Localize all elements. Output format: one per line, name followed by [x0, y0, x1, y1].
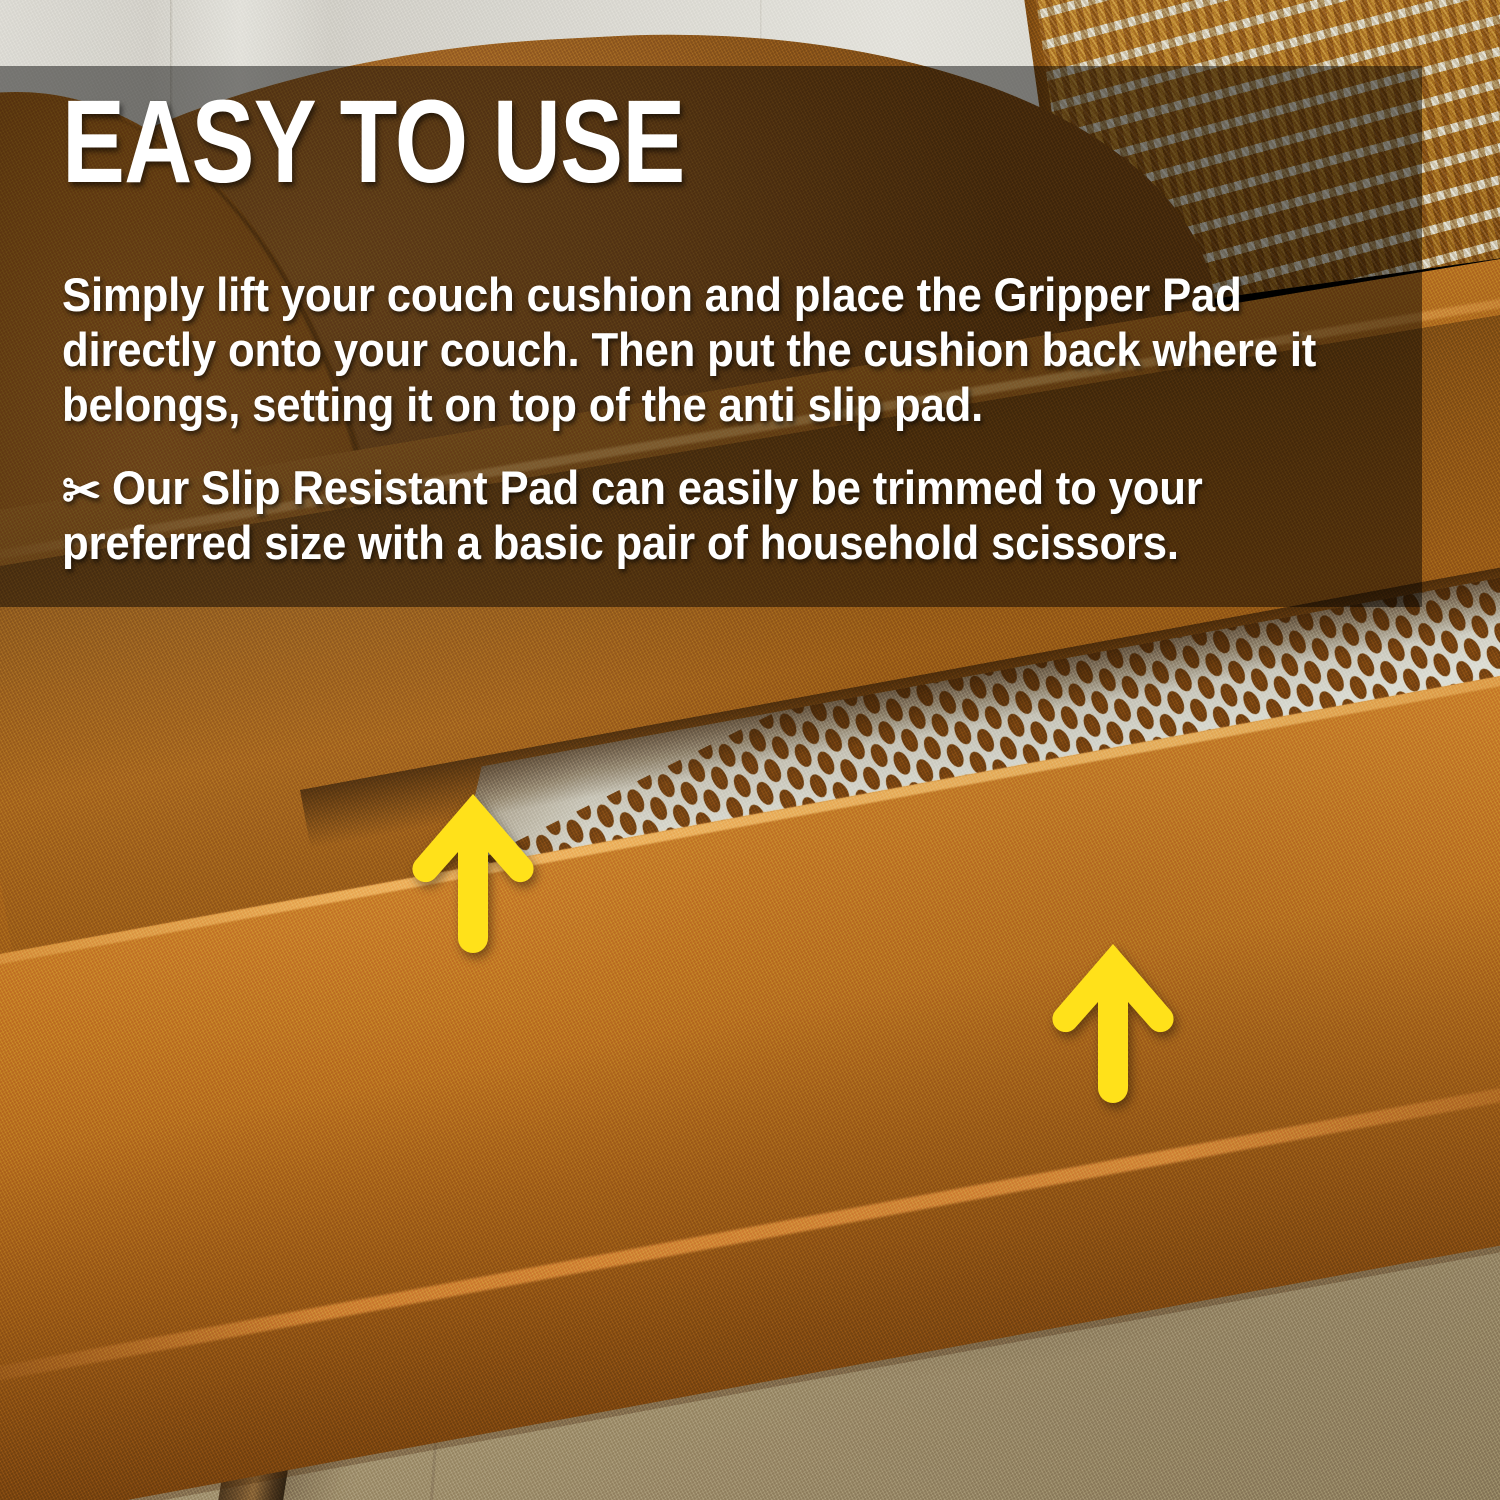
instruction-text: Simply lift your couch cushion and place…	[62, 268, 1316, 431]
instructions-block: Simply lift your couch cushion and place…	[62, 268, 1422, 571]
trim-text: Our Slip Resistant Pad can easily be tri…	[62, 461, 1203, 569]
product-infographic: EASY TO USE Simply lift your couch cushi…	[0, 0, 1500, 1500]
trim-paragraph: ✂Our Slip Resistant Pad can easily be tr…	[62, 461, 1327, 571]
scissors-icon: ✂	[62, 466, 101, 516]
instruction-paragraph: Simply lift your couch cushion and place…	[62, 268, 1327, 433]
page-title: EASY TO USE	[62, 88, 685, 197]
up-arrow-icon-right	[1048, 938, 1178, 1106]
up-arrow-icon-left	[408, 788, 538, 956]
